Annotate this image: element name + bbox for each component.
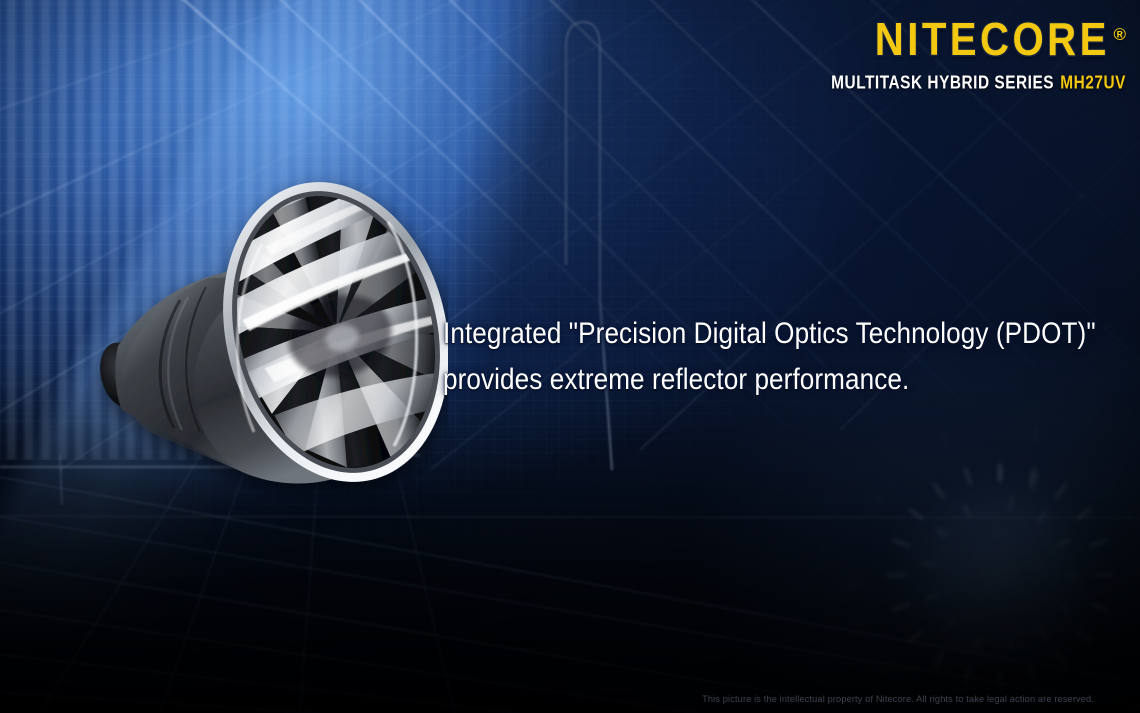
reflector-illustration: [88, 160, 448, 510]
series-label: MULTITASK HYBRID SERIES: [831, 71, 1054, 92]
brand-name: NITECORE: [874, 17, 1109, 63]
headline-line-2: provides extreme reflector performance.: [443, 357, 974, 403]
brand-row: NITECORE ®: [791, 22, 1126, 63]
headline-text: Integrated "Precision Digital Optics Tec…: [443, 311, 974, 403]
registered-trademark-icon: ®: [1113, 26, 1126, 43]
series-row: MULTITASK HYBRID SERIESMH27UV: [831, 71, 1126, 93]
copyright-note: This picture is the intellectual propert…: [702, 694, 1094, 704]
headline-line-1: Integrated "Precision Digital Optics Tec…: [443, 311, 974, 357]
model-label: MH27UV: [1060, 71, 1126, 92]
radial-dial-motif: [848, 428, 1140, 713]
product-image-reflector: [88, 160, 448, 510]
nitecore-logo: NITECORE ® MULTITASK HYBRID SERIESMH27UV: [791, 22, 1126, 93]
product-banner: NITECORE ® MULTITASK HYBRID SERIESMH27UV…: [0, 0, 1140, 713]
